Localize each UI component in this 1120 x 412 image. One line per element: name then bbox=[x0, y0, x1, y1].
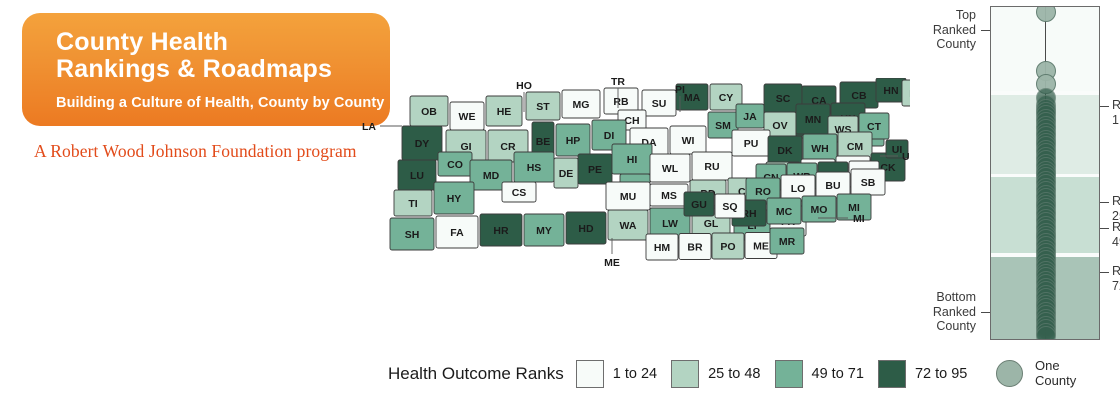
legend-item-1[interactable]: 25 to 48 bbox=[671, 360, 760, 388]
map-county-layer: OBWEHESTMGRBSUCHMACYSCCACBDYGICRBEHPDIDA… bbox=[390, 78, 910, 260]
county-label-TI: TI bbox=[408, 198, 417, 210]
county-label-LU: LU bbox=[410, 170, 424, 182]
county-label-JA: JA bbox=[743, 111, 757, 123]
county-label-WE: WE bbox=[459, 111, 476, 123]
foundation-credit: A Robert Wood Johnson Foundation program bbox=[34, 141, 357, 162]
county-label-SU: SU bbox=[652, 98, 667, 110]
legend-label-2: 49 to 71 bbox=[812, 366, 864, 382]
legend-title: Health Outcome Ranks bbox=[388, 364, 564, 384]
callout-label-HO: HO bbox=[516, 80, 532, 92]
county-label-HD: HD bbox=[578, 223, 594, 235]
logo-title-line1: County Health bbox=[56, 29, 390, 56]
logo-tagline: Building a Culture of Health, County by … bbox=[56, 95, 390, 111]
brand-logo-panel: County Health Rankings & Roadmaps Buildi… bbox=[22, 13, 390, 126]
county-label-DY: DY bbox=[415, 138, 430, 150]
county-label-RB: RB bbox=[613, 96, 629, 108]
bottom-ranked-county-label: BottomRankedCounty bbox=[906, 290, 976, 334]
top-ranked-county-label-tick bbox=[981, 30, 990, 31]
county-label-WL: WL bbox=[662, 163, 679, 175]
rank-range-label-2: Ranks49 to 71 bbox=[1112, 220, 1120, 249]
county-label-UI: UI bbox=[892, 144, 903, 156]
county-label-HY: HY bbox=[447, 193, 462, 205]
legend-item-0[interactable]: 1 to 24 bbox=[576, 360, 657, 388]
county-label-DI: DI bbox=[604, 130, 615, 142]
county-label-PO: PO bbox=[720, 241, 735, 253]
rank-range-label-2-tick bbox=[1100, 228, 1109, 229]
county-label-PU: PU bbox=[744, 138, 759, 150]
county-label-BU: BU bbox=[825, 180, 840, 192]
county-label-MU: MU bbox=[620, 191, 636, 203]
legend-swatch-1 bbox=[671, 360, 699, 388]
county-label-HN: HN bbox=[883, 85, 898, 97]
county-label-DK: DK bbox=[777, 145, 793, 157]
legend-label-0: 1 to 24 bbox=[613, 366, 657, 382]
county-label-CT: CT bbox=[867, 121, 882, 133]
county-label-FA: FA bbox=[450, 227, 464, 239]
one-county-key-label: OneCounty bbox=[1035, 358, 1076, 388]
county-label-SQ: SQ bbox=[722, 201, 737, 213]
county-label-BE: BE bbox=[536, 136, 551, 148]
county-label-HS: HS bbox=[527, 162, 542, 174]
rank-strip-chart-panel: TopRankedCountyBottomRankedCountyRanks1 … bbox=[908, 0, 1120, 412]
county-label-WI: WI bbox=[682, 135, 695, 147]
county-label-CH: CH bbox=[624, 115, 639, 127]
bottom-ranked-county-label-tick bbox=[981, 312, 990, 313]
county-label-DE: DE bbox=[559, 168, 574, 180]
county-label-CY: CY bbox=[719, 92, 734, 104]
rank-range-label-1: Ranks25 to 48 bbox=[1112, 194, 1120, 223]
county-label-RU: RU bbox=[704, 161, 719, 173]
county-label-HI: HI bbox=[627, 154, 638, 166]
county-label-GU: GU bbox=[691, 199, 707, 211]
county-label-SH: SH bbox=[405, 229, 420, 241]
county-label-RO: RO bbox=[755, 186, 771, 198]
county-label-CR: CR bbox=[500, 141, 516, 153]
county-label-HP: HP bbox=[566, 135, 581, 147]
one-county-key: OneCounty bbox=[996, 358, 1076, 388]
county-label-SB: SB bbox=[861, 177, 876, 189]
county-label-HE: HE bbox=[497, 106, 512, 118]
legend-swatch-2 bbox=[775, 360, 803, 388]
county-dot[interactable] bbox=[1036, 326, 1056, 340]
rank-range-label-0: Ranks1 to 24 bbox=[1112, 98, 1120, 127]
county-label-GI: GI bbox=[460, 141, 471, 153]
county-label-MD: MD bbox=[483, 170, 500, 182]
county-label-MG: MG bbox=[573, 99, 590, 111]
top-ranked-county-label: TopRankedCounty bbox=[906, 8, 976, 52]
logo-title-line2: Rankings & Roadmaps bbox=[56, 56, 390, 83]
county-label-MN: MN bbox=[805, 114, 821, 126]
county-label-CM: CM bbox=[847, 141, 864, 153]
one-county-dot-icon bbox=[996, 360, 1023, 387]
county-label-ME: ME bbox=[753, 240, 769, 252]
county-label-HM: HM bbox=[654, 242, 671, 254]
rank-range-label-1-tick bbox=[1100, 202, 1109, 203]
rank-range-label-3: Ranks72 to 95 bbox=[1112, 264, 1120, 293]
map-legend: Health Outcome Ranks 1 to 2425 to 4849 t… bbox=[388, 360, 981, 388]
callout-label-TR: TR bbox=[611, 78, 625, 88]
county-label-GL: GL bbox=[704, 218, 719, 230]
map-svg: OBWEHESTMGRBSUCHMACYSCCACBDYGICRBEHPDIDA… bbox=[350, 78, 910, 268]
county-label-LW: LW bbox=[662, 218, 678, 230]
county-label-MY: MY bbox=[536, 225, 552, 237]
county-label-BR: BR bbox=[687, 241, 703, 253]
rank-range-label-0-tick bbox=[1100, 106, 1109, 107]
county-label-SM: SM bbox=[715, 120, 731, 132]
legend-label-1: 25 to 48 bbox=[708, 366, 760, 382]
county-label-MR: MR bbox=[779, 236, 796, 248]
county-label-CB: CB bbox=[851, 90, 867, 102]
rank-range-label-3-tick bbox=[1100, 272, 1109, 273]
county-label-OB: OB bbox=[421, 106, 437, 118]
callout-label-LA: LA bbox=[362, 121, 376, 133]
county-label-CO: CO bbox=[447, 159, 463, 171]
tennessee-county-map: OBWEHESTMGRBSUCHMACYSCCACBDYGICRBEHPDIDA… bbox=[350, 78, 910, 268]
county-label-LO: LO bbox=[791, 183, 806, 195]
callout-label-MI: MI bbox=[853, 213, 865, 225]
callout-label-PI: PI bbox=[675, 84, 685, 96]
county-label-MS: MS bbox=[661, 190, 677, 202]
county-label-ST: ST bbox=[536, 101, 550, 113]
legend-swatch-0 bbox=[576, 360, 604, 388]
rank-strip-chart bbox=[990, 6, 1100, 340]
county-label-HR: HR bbox=[493, 225, 509, 237]
county-label-MO: MO bbox=[811, 204, 828, 216]
county-label-SC: SC bbox=[776, 93, 791, 105]
county-label-PE: PE bbox=[588, 164, 602, 176]
logo-title: County Health Rankings & Roadmaps bbox=[56, 29, 390, 83]
legend-swatch-3 bbox=[878, 360, 906, 388]
county-label-MC: MC bbox=[776, 206, 793, 218]
county-label-WH: WH bbox=[811, 143, 829, 155]
county-label-WA: WA bbox=[620, 220, 637, 232]
county-label-OV: OV bbox=[772, 120, 787, 132]
legend-item-2[interactable]: 49 to 71 bbox=[775, 360, 864, 388]
county-label-CS: CS bbox=[512, 187, 527, 199]
county-label-MA: MA bbox=[684, 92, 701, 104]
county-label-MI: MI bbox=[848, 202, 860, 214]
callout-label-ME: ME bbox=[604, 257, 620, 268]
